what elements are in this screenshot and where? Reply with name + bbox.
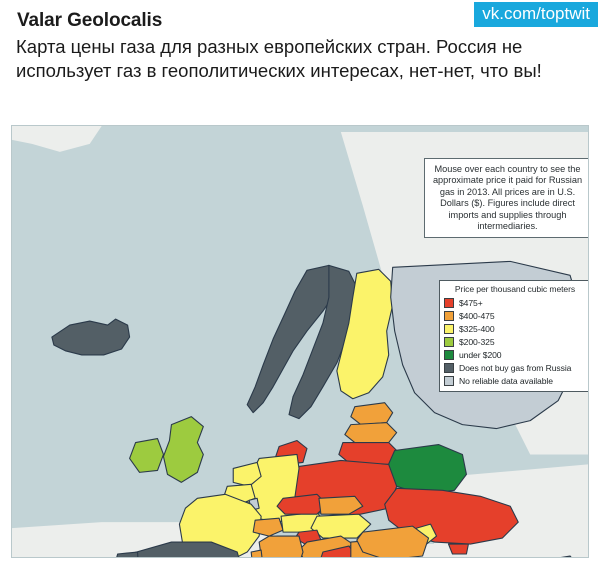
legend-item[interactable]: Does not buy gas from Russia [444, 361, 586, 374]
legend-item-label: $475+ [459, 298, 483, 308]
legend-item-label: No reliable data available [459, 376, 553, 386]
legend-color-swatch [444, 324, 454, 334]
legend-color-swatch [444, 298, 454, 308]
legend-item[interactable]: $200-325 [444, 335, 586, 348]
country-estonia[interactable] [351, 403, 393, 425]
legend-item[interactable]: No reliable data available [444, 374, 586, 387]
legend-item[interactable]: $400-475 [444, 309, 586, 322]
map-panel: Mouse over each country to see the appro… [0, 118, 600, 565]
post-header: Valar Geolocalis Карта цены газа для раз… [0, 0, 600, 118]
legend-item-label: $325-400 [459, 324, 495, 334]
legend-color-swatch [444, 337, 454, 347]
legend-item-label: Does not buy gas from Russia [459, 363, 571, 373]
watermark-badge: vk.com/toptwit [474, 2, 598, 27]
legend-item[interactable]: $475+ [444, 296, 586, 309]
country-belarus[interactable] [387, 445, 467, 495]
legend-item[interactable]: under $200 [444, 348, 586, 361]
legend-item[interactable]: $325-400 [444, 322, 586, 335]
legend-color-swatch [444, 363, 454, 373]
account-name: Valar Geolocalis [17, 10, 162, 32]
country-crimea[interactable] [448, 544, 468, 554]
country-latvia[interactable] [345, 423, 397, 443]
post-body-text: Карта цены газа для разных европейских с… [16, 35, 591, 83]
map-frame[interactable]: Mouse over each country to see the appro… [11, 125, 589, 558]
legend-rows: $475+$400-475$325-400$200-325under $200D… [444, 296, 586, 387]
map-legend: Price per thousand cubic meters $475+$40… [439, 280, 589, 392]
legend-title: Price per thousand cubic meters [444, 284, 586, 294]
legend-color-swatch [444, 311, 454, 321]
legend-item-label: $200-325 [459, 337, 495, 347]
legend-item-label: under $200 [459, 350, 502, 360]
map-info-text: Mouse over each country to see the appro… [433, 164, 582, 231]
legend-item-label: $400-475 [459, 311, 495, 321]
legend-color-swatch [444, 376, 454, 386]
legend-color-swatch [444, 350, 454, 360]
map-info-box: Mouse over each country to see the appro… [424, 158, 589, 238]
